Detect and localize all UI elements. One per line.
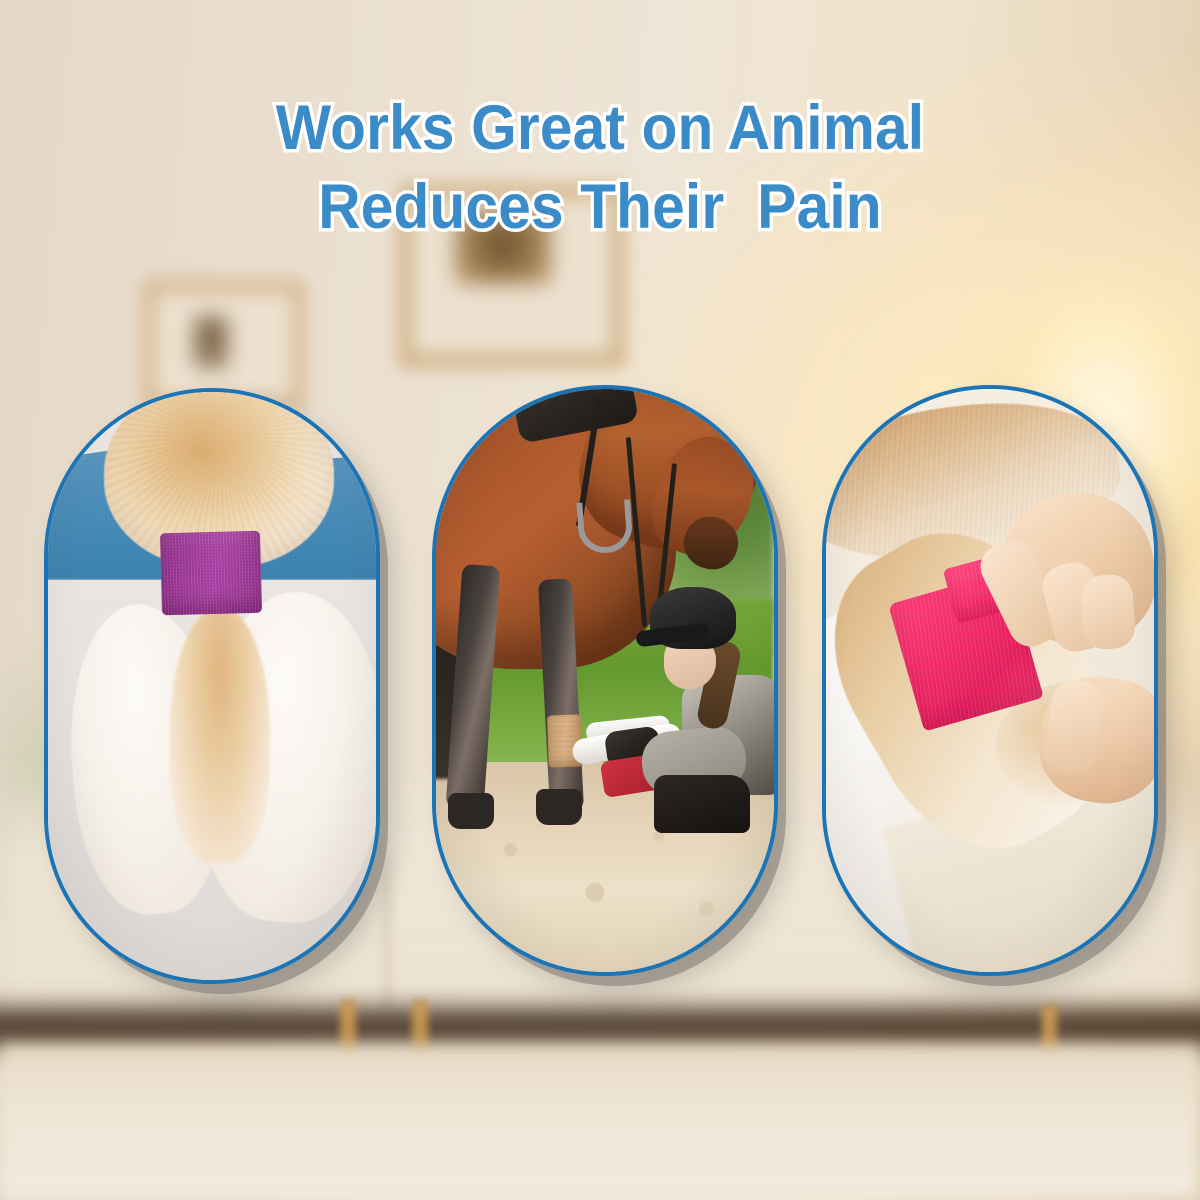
picture-frame-small-art bbox=[194, 316, 228, 368]
headline: Works Great on Animal Reduces Their Pain bbox=[42, 96, 1158, 240]
headline-line-2: Reduces Their Pain bbox=[42, 175, 1158, 240]
photo-dog-purple-wrap bbox=[48, 392, 376, 980]
furniture-seam bbox=[385, 860, 389, 1010]
panel-dog-pink-wrap bbox=[822, 385, 1158, 976]
vignette bbox=[48, 392, 376, 980]
photo-horse-rider bbox=[436, 389, 774, 972]
floor bbox=[0, 1045, 1200, 1200]
headline-line-1: Works Great on Animal bbox=[42, 96, 1158, 161]
vignette bbox=[436, 389, 774, 972]
panel-dog-purple-wrap bbox=[44, 388, 380, 984]
panel-horse-rider bbox=[432, 385, 778, 976]
photo-dog-pink-wrap bbox=[826, 389, 1154, 972]
vignette bbox=[826, 389, 1154, 972]
product-image-canvas: Works Great on Animal Reduces Their Pain bbox=[0, 0, 1200, 1200]
